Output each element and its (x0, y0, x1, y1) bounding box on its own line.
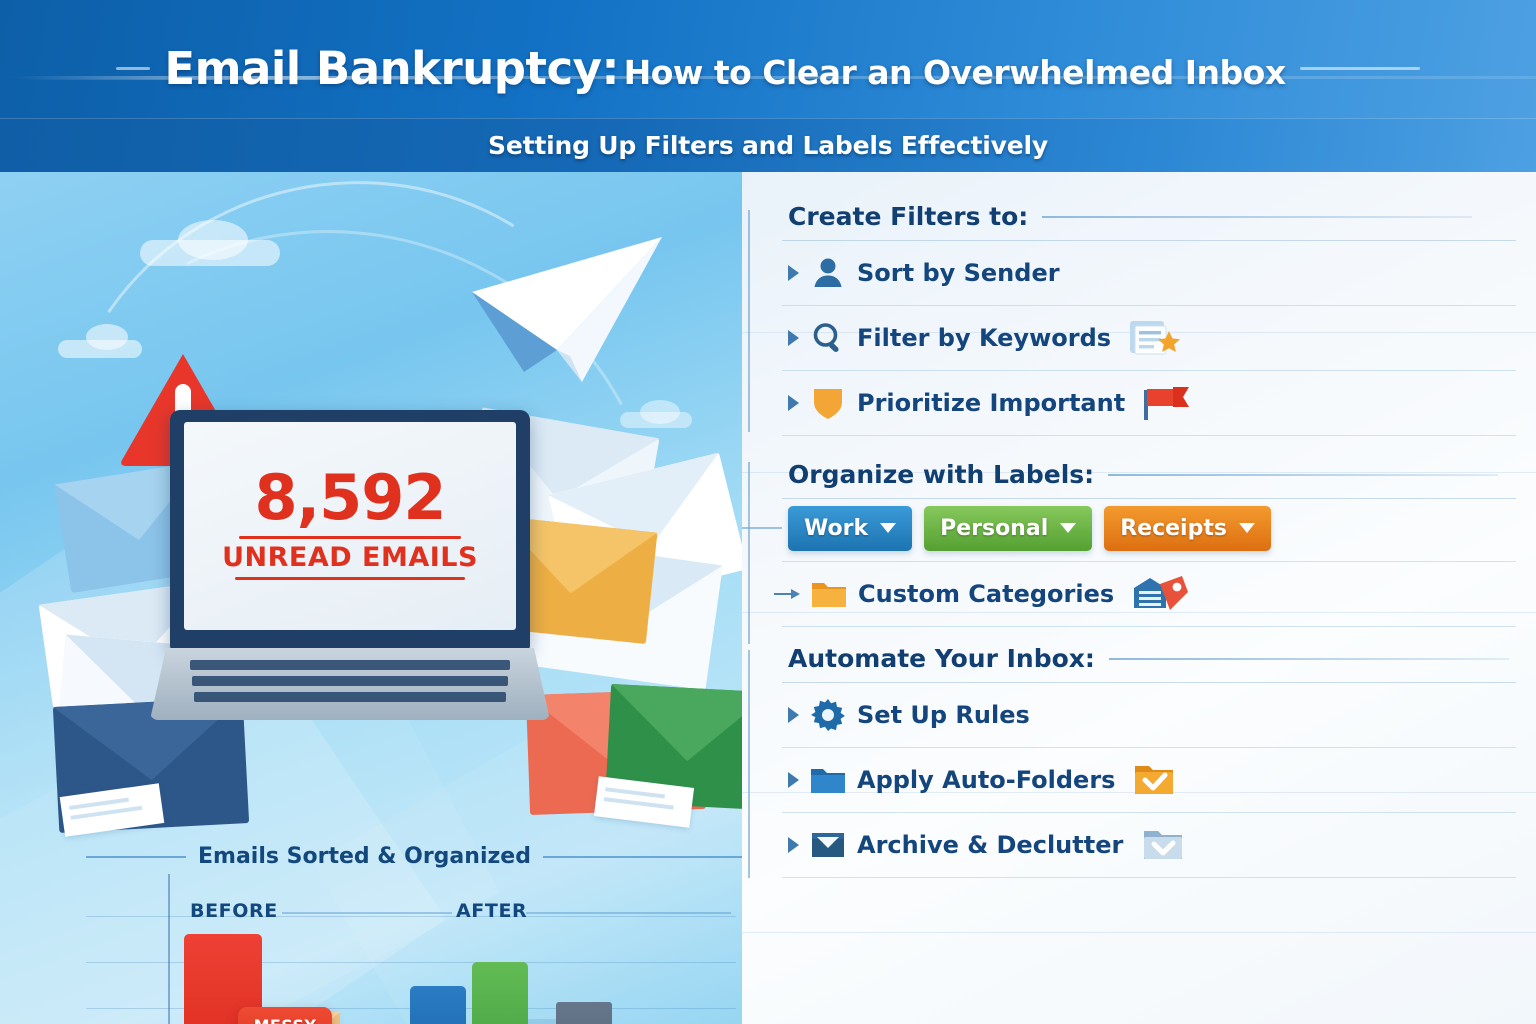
row-label: Apply Auto-Folders (857, 766, 1115, 794)
chart-title-rule-left (86, 856, 186, 858)
chevron-down-icon (1239, 523, 1255, 533)
title-main: Email Bankruptcy: (164, 42, 619, 95)
chip-label: Work (804, 516, 868, 541)
content-panel: Create Filters to: Sort by Sender (742, 172, 1536, 1024)
caption-underline (235, 577, 465, 580)
group-rule (526, 912, 731, 914)
title-rule-left (116, 67, 150, 70)
document-star-icon (1127, 318, 1183, 358)
chevron-down-icon (1060, 523, 1076, 533)
row-label: Set Up Rules (857, 701, 1030, 729)
chip-label: Receipts (1120, 516, 1227, 541)
archive-box-icon (809, 826, 847, 864)
row-divider (782, 435, 1516, 436)
unread-caption: UNREAD EMAILS (222, 544, 478, 571)
title-rule-right (1300, 67, 1420, 70)
caret-right-icon (788, 837, 799, 853)
caret-right-icon (788, 265, 799, 281)
chart-bar-after-blue (410, 986, 466, 1024)
section-title: Create Filters to: (788, 202, 1028, 231)
laptop-keyboard-row (190, 660, 510, 670)
caret-right-icon (788, 330, 799, 346)
section-automate-inbox: Automate Your Inbox: Set Up Rules (742, 644, 1536, 878)
row-label: Filter by Keywords (857, 324, 1111, 352)
paper-plane-icon (462, 232, 672, 402)
count-underline (239, 536, 461, 539)
row-prioritize-important[interactable]: Prioritize Important (742, 371, 1536, 435)
messy-line-1: MESSY (254, 1016, 317, 1024)
red-flag-icon (1141, 383, 1197, 423)
label-chip-personal[interactable]: Personal (924, 506, 1092, 551)
section-heading-filters: Create Filters to: (742, 202, 1536, 231)
row-set-up-rules[interactable]: Set Up Rules (742, 683, 1536, 747)
cloud-icon (640, 400, 680, 424)
label-chip-receipts[interactable]: Receipts (1104, 506, 1271, 551)
row-label: Prioritize Important (857, 389, 1125, 417)
title-sub: How to Clear an Overwhelmed Inbox (624, 53, 1286, 92)
row-custom-categories[interactable]: Custom Categories (742, 562, 1536, 626)
unread-count: 8,592 (254, 467, 445, 529)
magnifier-icon (809, 319, 847, 357)
folder-blue-icon (809, 761, 847, 799)
laptop-keyboard-row (194, 692, 506, 702)
group-rule (282, 912, 452, 914)
folder-orange-icon (810, 575, 848, 613)
chart-title-rule-right (543, 856, 742, 858)
chart-title-row: Emails Sorted & Organized (86, 844, 736, 869)
archive-down-icon (1139, 825, 1195, 865)
label-chip-work[interactable]: Work (788, 506, 912, 551)
chip-label: Personal (940, 516, 1048, 541)
row-sort-by-sender[interactable]: Sort by Sender (742, 241, 1536, 305)
page-title: Email Bankruptcy: How to Clear an Overwh… (0, 36, 1536, 100)
row-label: Archive & Declutter (857, 831, 1123, 859)
laptop-keyboard-row (192, 676, 508, 686)
row-archive-declutter[interactable]: Archive & Declutter (742, 813, 1536, 877)
folder-check-orange-icon (1131, 760, 1187, 800)
section-heading-labels: Organize with Labels: (742, 460, 1536, 489)
shield-icon (809, 384, 847, 422)
section-create-filters: Create Filters to: Sort by Sender (742, 202, 1536, 436)
row-divider (782, 877, 1516, 878)
chart-title: Emails Sorted & Organized (198, 844, 531, 869)
row-apply-auto-folders[interactable]: Apply Auto-Folders (742, 748, 1536, 812)
section-title: Automate Your Inbox: (788, 644, 1095, 673)
heading-rule (1109, 658, 1509, 660)
caret-right-icon (788, 772, 799, 788)
caret-right-icon (788, 395, 799, 411)
chart-bar-after-green (472, 962, 528, 1024)
before-after-chart: Emails Sorted & Organized BEFORE AFTER (86, 844, 736, 1024)
caret-right-icon (788, 707, 799, 723)
illustration-panel: 8,592 UNREAD EMAILS Emails Sorted & Orga… (0, 172, 742, 1024)
chart-y-axis (168, 874, 170, 1024)
chart-group-label-before: BEFORE (190, 900, 278, 922)
heading-rule (1042, 216, 1472, 218)
heading-rule (1108, 474, 1498, 476)
row-label: Custom Categories (858, 580, 1114, 608)
gear-icon (809, 696, 847, 734)
section-heading-automate: Automate Your Inbox: (742, 644, 1536, 673)
panel-stripe (742, 932, 1536, 933)
chart-group-label-after: AFTER (456, 900, 527, 922)
chart-bar-after-gray (556, 1002, 612, 1024)
row-divider (782, 626, 1516, 627)
person-icon (809, 254, 847, 292)
label-tag-icon (1130, 574, 1194, 614)
row-label: Sort by Sender (857, 259, 1060, 287)
arrow-right-icon (774, 588, 800, 600)
page-subtitle-bar: Setting Up Filters and Labels Effectivel… (0, 118, 1536, 172)
page-subtitle: Setting Up Filters and Labels Effectivel… (488, 131, 1048, 160)
messy-inbox-badge: MESSY INBOX (238, 1007, 332, 1024)
grid-line (86, 916, 736, 917)
section-organize-labels: Organize with Labels: Work Personal (742, 460, 1536, 627)
section-title: Organize with Labels: (788, 460, 1094, 489)
laptop-screen: 8,592 UNREAD EMAILS (184, 422, 516, 630)
chip-lead-rule (742, 527, 782, 529)
chevron-down-icon (880, 523, 896, 533)
page-header: Email Bankruptcy: How to Clear an Overwh… (0, 0, 1536, 118)
row-filter-by-keywords[interactable]: Filter by Keywords (742, 306, 1536, 370)
label-chip-group: Work Personal Receipts (742, 499, 1536, 557)
